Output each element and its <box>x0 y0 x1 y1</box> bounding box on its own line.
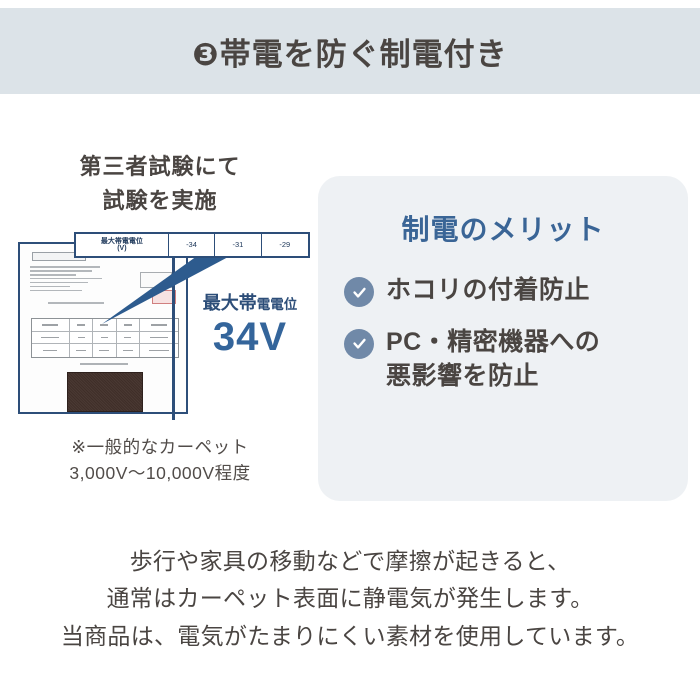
merit-item-text: PC・精密機器への 悪影響を防止 <box>386 326 600 394</box>
table-cell <box>70 332 93 344</box>
table-row <box>32 344 178 357</box>
table-cell <box>70 344 93 357</box>
description-line1: 歩行や家具の移動などで摩擦が起きると、 <box>0 543 700 580</box>
merit-item-text: ホコリの付着防止 <box>386 274 590 308</box>
left-heading-line1: 第三者試験にて <box>10 150 310 184</box>
merit-title: 制電のメリット <box>318 208 688 248</box>
merit-item-line1: PC・精密機器への <box>386 326 600 360</box>
note-line1: ※一般的なカーペット <box>10 434 310 460</box>
callout-value-3: -29 <box>262 234 308 256</box>
test-report-cluster: 最大帯電電位 (V) -34 -31 -29 最大帯電電位 34V <box>10 232 310 422</box>
table-cell <box>32 319 70 331</box>
check-circle-icon <box>344 277 374 307</box>
carpet-sample-swatch <box>67 372 143 412</box>
table-cell <box>117 344 140 357</box>
note-line2: 3,000V〜10,000V程度 <box>10 460 310 486</box>
readout-label-small: 電電位 <box>257 297 298 312</box>
callout-value-1: -34 <box>169 234 215 256</box>
document-caption-line <box>80 363 128 365</box>
page-title: ❸帯電を防ぐ制電付き <box>192 29 507 74</box>
table-cell <box>32 344 70 357</box>
description-line3: 当商品は、電気がたまりにくい素材を使用しています。 <box>0 618 700 655</box>
table-cell <box>117 332 140 344</box>
table-cell <box>93 344 116 357</box>
merit-panel: 制電のメリット ホコリの付着防止 P <box>318 176 688 501</box>
check-circle-icon <box>344 329 374 359</box>
callout-label: 最大帯電電位 (V) <box>76 234 169 256</box>
callout-value-2: -31 <box>215 234 261 256</box>
callout-label-line2: (V) <box>101 245 143 253</box>
header-band: ❸帯電を防ぐ制電付き <box>0 8 700 94</box>
readout-value: 34V <box>186 315 314 359</box>
table-cell <box>32 332 70 344</box>
max-charge-callout: 最大帯電電位 (V) -34 -31 -29 <box>74 232 310 258</box>
infographic-page: ❸帯電を防ぐ制電付き 第三者試験にて 試験を実施 <box>0 0 700 700</box>
description-paragraph: 歩行や家具の移動などで摩擦が起きると、 通常はカーペット表面に静電気が発生します… <box>0 543 700 655</box>
document-text-lines <box>30 266 108 293</box>
readout-label: 最大帯電電位 <box>186 294 314 313</box>
document-subtitle-line <box>48 302 104 304</box>
merit-item-line2: 悪影響を防止 <box>386 360 600 394</box>
table-cell <box>93 332 116 344</box>
general-carpet-note: ※一般的なカーペット 3,000V〜10,000V程度 <box>10 434 310 487</box>
readout-label-big: 最大帯 <box>203 293 257 313</box>
left-heading: 第三者試験にて 試験を実施 <box>10 150 310 218</box>
table-row <box>32 332 178 345</box>
table-cell <box>70 319 93 331</box>
description-line2: 通常はカーペット表面に静電気が発生します。 <box>0 580 700 617</box>
max-charge-readout: 最大帯電電位 34V <box>186 294 314 359</box>
merit-item-line1: ホコリの付着防止 <box>386 274 590 308</box>
test-evidence-column: 第三者試験にて 試験を実施 <box>10 150 310 487</box>
callout-label-line1: 最大帯電電位 <box>101 238 143 246</box>
left-heading-line2: 試験を実施 <box>10 184 310 218</box>
list-item: ホコリの付着防止 <box>344 274 688 308</box>
list-item: PC・精密機器への 悪影響を防止 <box>344 326 688 394</box>
merit-list: ホコリの付着防止 PC・精密機器への 悪影響を防止 <box>318 274 688 393</box>
